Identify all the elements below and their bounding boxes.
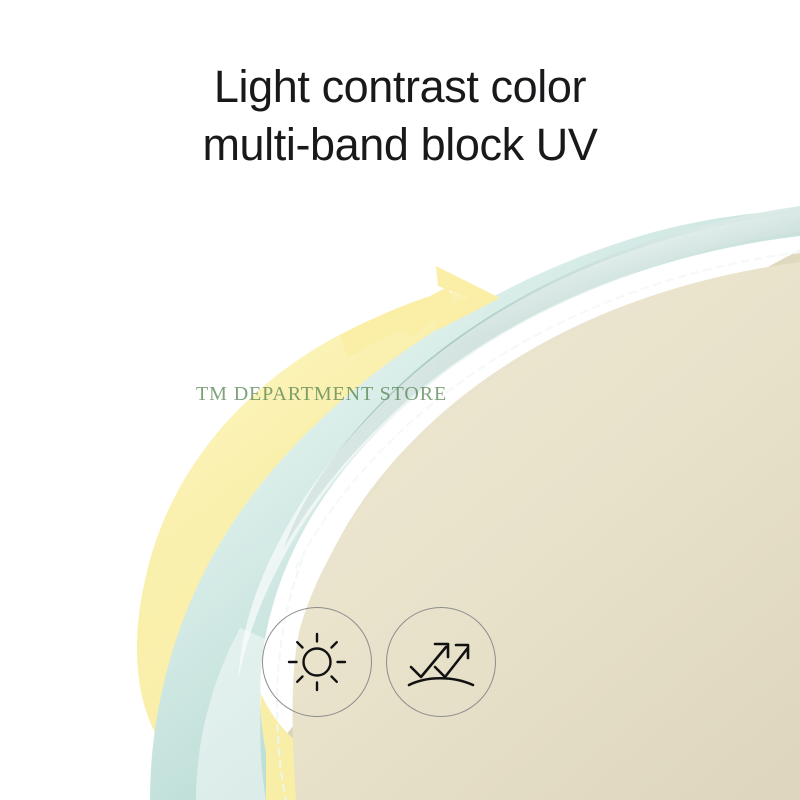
feature-badge-row	[262, 607, 496, 717]
sun-icon	[284, 629, 350, 695]
sun-badge	[262, 607, 372, 717]
uv-deflect-badge	[386, 607, 496, 717]
product-feature-banner: Light contrast color multi-band block UV…	[0, 0, 800, 800]
uv-deflect-icon	[405, 629, 477, 695]
